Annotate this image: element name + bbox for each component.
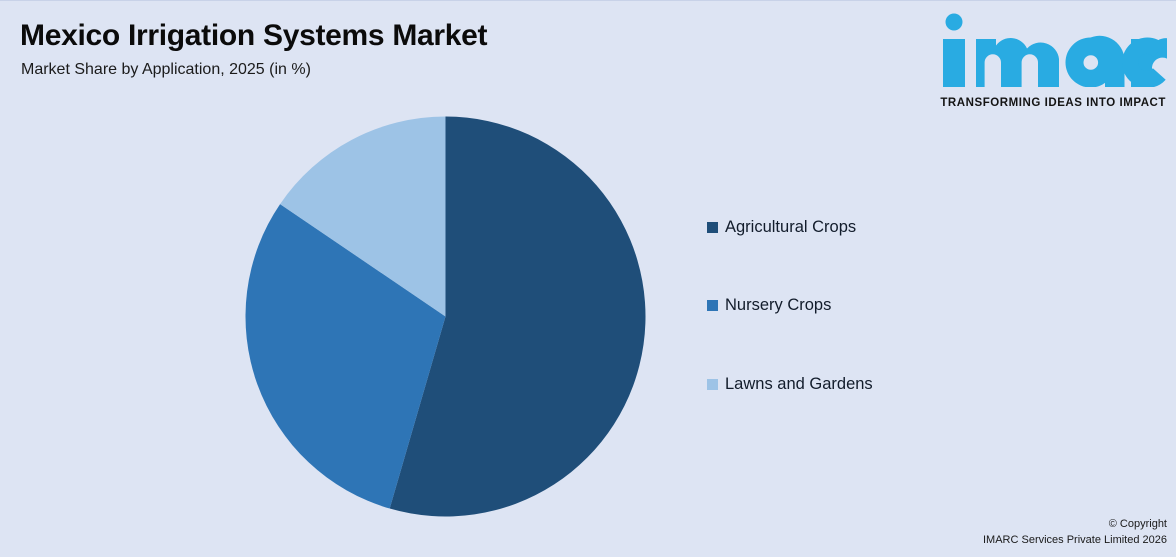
legend-label-nursery-crops: Nursery Crops xyxy=(725,297,831,314)
imarc-wordmark-icon xyxy=(930,9,1170,87)
logo-tagline: TRANSFORMING IDEAS INTO IMPACT xyxy=(940,97,1166,109)
copyright-line-1: © Copyright xyxy=(983,517,1167,533)
legend-swatch-nursery-crops xyxy=(707,300,718,311)
legend-item-nursery-crops[interactable]: Nursery Crops xyxy=(707,297,831,314)
pie-chart xyxy=(245,116,646,517)
chart-canvas: Mexico Irrigation Systems Market Market … xyxy=(0,0,1176,557)
page-subtitle: Market Share by Application, 2025 (in %) xyxy=(21,61,311,79)
legend-swatch-lawns-and-gardens xyxy=(707,379,718,390)
legend-swatch-agricultural-crops xyxy=(707,222,718,233)
imarc-logo: TRANSFORMING IDEAS INTO IMPACT xyxy=(922,9,1170,109)
pie-chart-svg xyxy=(245,116,646,517)
copyright-block: © Copyright IMARC Services Private Limit… xyxy=(983,517,1167,549)
legend-label-agricultural-crops: Agricultural Crops xyxy=(725,219,856,236)
legend-label-lawns-and-gardens: Lawns and Gardens xyxy=(725,376,873,393)
legend-item-lawns-and-gardens[interactable]: Lawns and Gardens xyxy=(707,376,873,393)
legend-item-agricultural-crops[interactable]: Agricultural Crops xyxy=(707,219,856,236)
page-title: Mexico Irrigation Systems Market xyxy=(20,19,487,53)
copyright-line-2: IMARC Services Private Limited 2026 xyxy=(983,533,1167,549)
